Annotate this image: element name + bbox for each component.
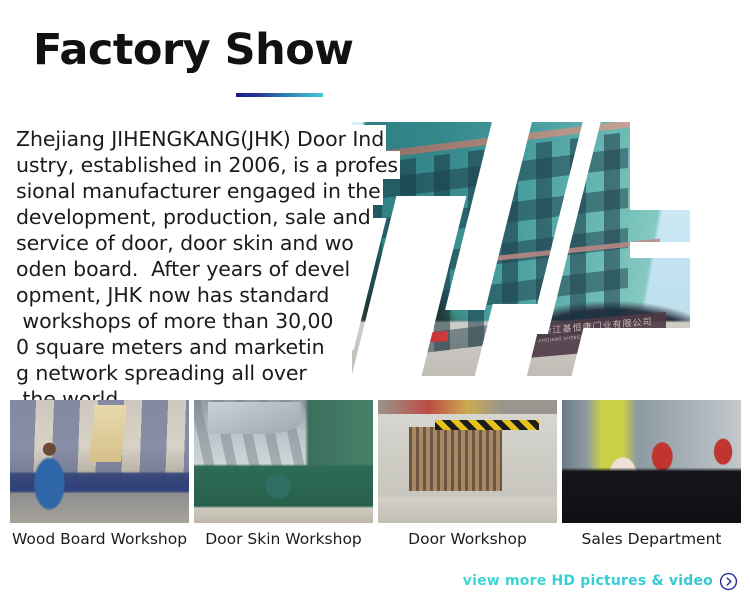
gallery-caption: Door Skin Workshop — [194, 528, 373, 552]
monogram-stripe — [569, 328, 690, 376]
intro-line: opment, JHK now has standard — [16, 282, 436, 308]
gallery-thumbnail-row — [10, 400, 742, 523]
intro-line: sional manufacturer engaged in the — [16, 178, 436, 204]
monogram-stripe — [630, 122, 690, 210]
monogram-stripe — [630, 242, 690, 258]
page-title: Factory Show — [33, 28, 354, 73]
view-more-link-label: view more HD pictures & video — [463, 573, 713, 589]
intro-line: Zhejiang JIHENGKANG(JHK) Door Ind — [16, 126, 436, 152]
gallery-caption: Wood Board Workshop — [10, 528, 189, 552]
intro-line: workshops of more than 30,00 — [16, 308, 436, 334]
intro-line: development, production, sale and — [16, 204, 436, 230]
company-intro-paragraph: Zhejiang JIHENGKANG(JHK) Door Ind ustry,… — [16, 126, 436, 412]
intro-line: service of door, door skin and wo — [16, 230, 436, 256]
gallery-caption-row: Wood Board Workshop Door Skin Workshop D… — [10, 528, 742, 552]
intro-line: ustry, established in 2006, is a profes — [16, 152, 436, 178]
gallery-thumb-door-skin-workshop[interactable] — [194, 400, 373, 523]
gallery-thumb-sales-department[interactable] — [562, 400, 741, 523]
chevron-right-circle-icon[interactable] — [719, 572, 738, 591]
intro-line: oden board. After years of devel — [16, 256, 436, 282]
intro-line: 0 square meters and marketin — [16, 334, 436, 360]
view-more-link[interactable]: view more HD pictures & video — [463, 570, 738, 592]
gallery-caption: Sales Department — [562, 528, 741, 552]
title-underline-accent — [236, 93, 323, 97]
gallery-thumb-door-workshop[interactable] — [378, 400, 557, 523]
intro-line: g network spreading all over — [16, 360, 436, 386]
gallery-caption: Door Workshop — [378, 528, 557, 552]
gallery-thumb-wood-board-workshop[interactable] — [10, 400, 189, 523]
